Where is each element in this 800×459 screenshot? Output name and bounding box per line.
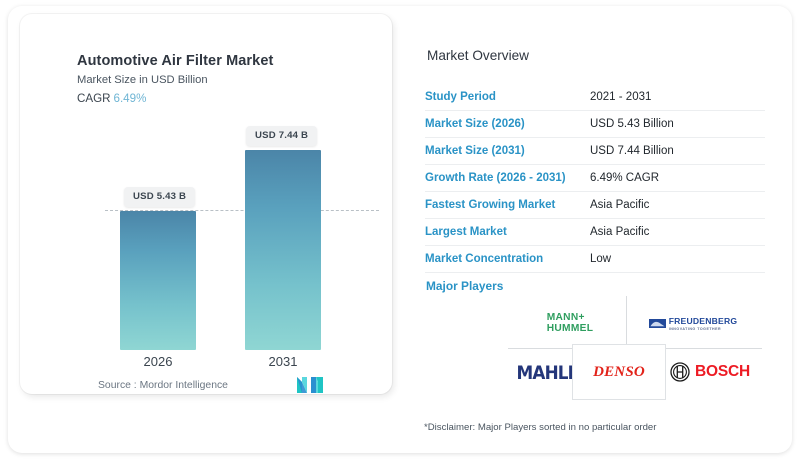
row-value: USD 7.44 Billion (590, 145, 674, 157)
bar-chart-plot-area: USD 5.43 B USD 7.44 B 2026 2031 (40, 114, 392, 364)
mann-hummel-logo: MANN+ HUMMEL (516, 300, 624, 346)
row-value: Low (590, 253, 611, 265)
chart-subtitle: Market Size in USD Billion (77, 74, 208, 86)
mann-hummel-line2: HUMMEL (547, 323, 594, 334)
table-row: Study Period 2021 - 2031 (425, 84, 765, 111)
bar-label-2031: USD 7.44 B (246, 126, 317, 146)
table-row: Growth Rate (2026 - 2031) 6.49% CAGR (425, 165, 765, 192)
table-row: Market Size (2026) USD 5.43 Billion (425, 111, 765, 138)
row-value: Asia Pacific (590, 199, 649, 211)
market-overview-heading: Market Overview (427, 48, 529, 63)
grid-divider (626, 296, 627, 348)
major-players-logo-grid: MANN+ HUMMEL FREUDENBERG INNOVATING TOGE… (508, 294, 760, 398)
mahle-text: MAHLE (516, 361, 578, 383)
table-row: Market Concentration Low (425, 246, 765, 273)
mann-hummel-line1: MANN+ (547, 312, 594, 323)
freudenberg-tagline: INNOVATING TOGETHER (669, 327, 738, 331)
bar-2026[interactable] (120, 211, 196, 350)
bar-label-2026: USD 5.43 B (124, 187, 195, 207)
bosch-armature-mark (670, 362, 690, 382)
row-label: Market Size (2031) (425, 145, 590, 157)
row-label: Fastest Growing Market (425, 199, 590, 211)
chart-title: Automotive Air Filter Market (77, 53, 273, 69)
row-label: Market Concentration (425, 253, 590, 265)
table-row: Market Size (2031) USD 7.44 Billion (425, 138, 765, 165)
row-label: Largest Market (425, 226, 590, 238)
major-players-label: Major Players (426, 279, 503, 293)
infographic-root: Automotive Air Filter Market Market Size… (0, 0, 800, 459)
freudenberg-mark (649, 319, 666, 328)
freudenberg-logo: FREUDENBERG INNOVATING TOGETHER (632, 300, 754, 346)
mordor-intelligence-logo (297, 376, 325, 394)
row-value: 2021 - 2031 (590, 91, 651, 103)
row-label: Growth Rate (2026 - 2031) (425, 172, 590, 184)
bosch-text: BOSCH (695, 363, 750, 381)
table-row: Largest Market Asia Pacific (425, 219, 765, 246)
denso-logo: DENSO (574, 348, 664, 396)
row-label: Study Period (425, 91, 590, 103)
source-text: Source : Mordor Intelligence (98, 380, 228, 391)
denso-text: DENSO (593, 364, 645, 381)
cagr-row: CAGR6.49% (77, 92, 146, 105)
x-axis-tick-2026: 2026 (120, 354, 196, 369)
disclaimer-text: *Disclaimer: Major Players sorted in no … (424, 422, 656, 433)
table-row: Fastest Growing Market Asia Pacific (425, 192, 765, 219)
bar-2031[interactable] (245, 150, 321, 350)
cagr-value: 6.49% (114, 92, 147, 105)
market-overview-table: Study Period 2021 - 2031 Market Size (20… (425, 84, 765, 273)
row-value: Asia Pacific (590, 226, 649, 238)
x-axis-tick-2031: 2031 (245, 354, 321, 369)
chart-card: Automotive Air Filter Market Market Size… (20, 14, 392, 394)
row-label: Market Size (2026) (425, 118, 590, 130)
bosch-logo: BOSCH (660, 348, 760, 396)
row-value: USD 5.43 Billion (590, 118, 674, 130)
cagr-label: CAGR (77, 92, 111, 105)
freudenberg-text: FREUDENBERG (669, 316, 738, 326)
row-value: 6.49% CAGR (590, 172, 659, 184)
